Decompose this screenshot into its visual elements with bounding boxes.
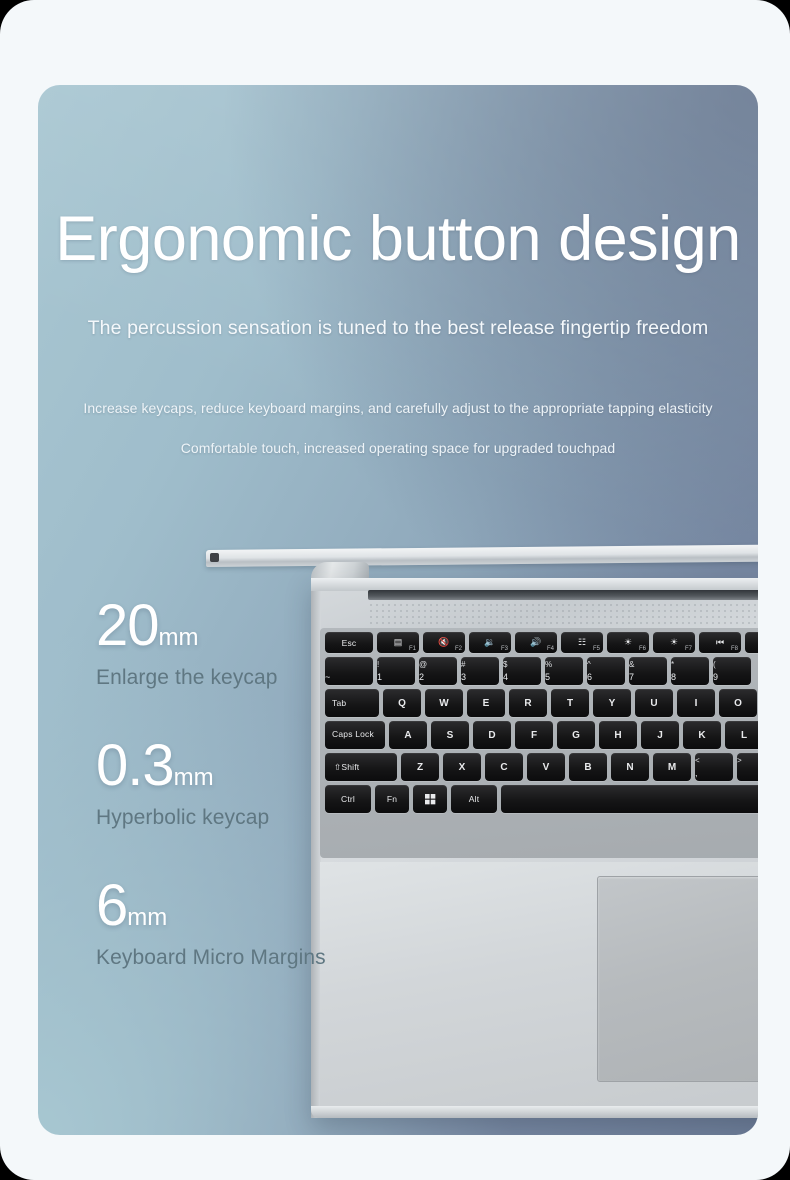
key-label: 6	[587, 672, 625, 682]
key-fn-label: F1	[409, 646, 416, 652]
volume-down-icon: 🔉	[484, 638, 495, 647]
windows-icon	[425, 794, 436, 805]
spec-unit: mm	[159, 624, 199, 651]
key-label: 5	[545, 672, 583, 682]
spec-value: 6mm	[96, 877, 376, 935]
key-fn-label: F8	[731, 646, 738, 652]
key-l[interactable]: L	[725, 721, 758, 749]
key-f6-brightness-down[interactable]: ☀ F6	[607, 632, 649, 653]
key-j[interactable]: J	[641, 721, 679, 749]
key-label: 3	[461, 672, 499, 682]
keyboard-home-row: Caps Lock A S D F G H J K L	[323, 721, 758, 749]
key-fn-label: F3	[501, 646, 508, 652]
spec-label: Keyboard Micro Margins	[96, 946, 376, 970]
key-u[interactable]: U	[635, 689, 673, 717]
spec-label: Enlarge the keycap	[96, 666, 376, 690]
key-label: K	[698, 730, 705, 741]
keyboard-number-row: ~ ! 1 @ 2 # 3 $	[323, 657, 758, 685]
key-label: Q	[398, 698, 406, 709]
key-fn-label: F6	[639, 646, 646, 652]
key-6[interactable]: ^ 6	[587, 657, 625, 685]
key-label: X	[459, 762, 466, 773]
keyboard-backlight-icon: ☷	[578, 638, 586, 647]
key-m[interactable]: M	[653, 753, 691, 781]
key-label: D	[488, 730, 495, 741]
key-label: I	[695, 698, 698, 709]
key-f2-mute[interactable]: 🔇 F2	[423, 632, 465, 653]
key-v[interactable]: V	[527, 753, 565, 781]
display-icon: ▤	[394, 638, 403, 647]
key-label: V	[543, 762, 550, 773]
spec-unit: mm	[174, 764, 214, 791]
keyboard-modifier-row: Ctrl Fn Alt	[323, 785, 758, 813]
spec-list: 20mm Enlarge the keycap 0.3mm Hyperbolic…	[96, 597, 376, 1017]
key-z[interactable]: Z	[401, 753, 439, 781]
key-spacebar[interactable]	[501, 785, 758, 813]
speaker-grille	[368, 602, 758, 624]
key-label: S	[447, 730, 454, 741]
key-label: 4	[503, 672, 541, 682]
key-y[interactable]: Y	[593, 689, 631, 717]
key-shift-label: %	[545, 660, 583, 669]
key-fn-label: F2	[455, 646, 462, 652]
key-comma[interactable]: < ,	[695, 753, 733, 781]
key-3[interactable]: # 3	[461, 657, 499, 685]
key-label: M	[668, 762, 676, 773]
key-label: E	[483, 698, 490, 709]
key-fn-label: F4	[547, 646, 554, 652]
mute-icon: 🔇	[438, 638, 449, 647]
lid-corner-detail	[210, 553, 219, 562]
previous-track-icon: ⏮	[716, 638, 724, 647]
key-label: G	[572, 730, 580, 741]
key-label: Z	[417, 762, 423, 773]
key-label: T	[567, 698, 573, 709]
spec-label: Hyperbolic keycap	[96, 806, 376, 830]
deck-front-lip	[311, 1106, 758, 1118]
key-f4-volume-up[interactable]: 🔊 F4	[515, 632, 557, 653]
key-r[interactable]: R	[509, 689, 547, 717]
key-t[interactable]: T	[551, 689, 589, 717]
key-shift-label: (	[713, 660, 751, 669]
key-label: 8	[671, 672, 709, 682]
key-9[interactable]: ( 9	[713, 657, 751, 685]
deck-dark-strip	[368, 590, 758, 600]
key-f3-volume-down[interactable]: 🔉 F3	[469, 632, 511, 653]
product-card: Ergonomic button design The percussion s…	[0, 0, 790, 1180]
spec-number: 20	[96, 593, 159, 658]
key-fn-label: F7	[685, 646, 692, 652]
key-label: O	[734, 698, 742, 709]
key-f8-previous-track[interactable]: ⏮ F8	[699, 632, 741, 653]
hero-subtitle: The percussion sensation is tuned to the…	[38, 317, 758, 340]
keyboard: Esc ▤ F1 🔇 F2 🔉 F3 🔊	[323, 632, 758, 817]
key-shift-label: @	[419, 660, 457, 669]
key-5[interactable]: % 5	[545, 657, 583, 685]
key-label: 7	[629, 672, 667, 682]
key-4[interactable]: $ 4	[503, 657, 541, 685]
spec-item-keycap-size: 20mm Enlarge the keycap	[96, 597, 376, 690]
spec-unit: mm	[127, 904, 167, 931]
key-label: N	[626, 762, 633, 773]
palm-rest	[320, 862, 758, 1118]
key-label: R	[524, 698, 531, 709]
key-g[interactable]: G	[557, 721, 595, 749]
spec-item-micro-margins: 6mm Keyboard Micro Margins	[96, 877, 376, 970]
key-label: 2	[419, 672, 457, 682]
key-a[interactable]: A	[389, 721, 427, 749]
key-c[interactable]: C	[485, 753, 523, 781]
key-shift-label: &	[629, 660, 667, 669]
key-i[interactable]: I	[677, 689, 715, 717]
spec-number: 0.3	[96, 733, 174, 798]
spec-value: 0.3mm	[96, 737, 376, 795]
key-h[interactable]: H	[599, 721, 637, 749]
key-label: A	[404, 730, 411, 741]
key-shift-label: >	[737, 756, 758, 765]
key-fn[interactable]: Fn	[375, 785, 409, 813]
spec-number: 6	[96, 873, 127, 938]
key-q[interactable]: Q	[383, 689, 421, 717]
key-n[interactable]: N	[611, 753, 649, 781]
volume-up-icon: 🔊	[530, 638, 541, 647]
keyboard-qwerty-row: Tab Q W E R T Y U I O	[323, 689, 758, 717]
key-label: ,	[695, 768, 733, 778]
key-period[interactable]: >	[737, 753, 758, 781]
hero-panel: Ergonomic button design The percussion s…	[38, 85, 758, 1135]
key-x[interactable]: X	[443, 753, 481, 781]
key-label: F	[531, 730, 537, 741]
key-windows[interactable]	[413, 785, 447, 813]
key-fn-label: F5	[593, 646, 600, 652]
key-f7-brightness-up[interactable]: ☀ F7	[653, 632, 695, 653]
key-label: Alt	[469, 794, 480, 804]
key-shift-label: $	[503, 660, 541, 669]
key-f[interactable]: F	[515, 721, 553, 749]
key-shift-label: #	[461, 660, 499, 669]
key-1[interactable]: ! 1	[377, 657, 415, 685]
key-e[interactable]: E	[467, 689, 505, 717]
key-o[interactable]: O	[719, 689, 757, 717]
key-label: Y	[609, 698, 616, 709]
keyboard-shift-row: ⇧ Shift Z X C V B N M < , >	[323, 753, 758, 781]
key-w[interactable]: W	[425, 689, 463, 717]
key-label: W	[439, 698, 448, 709]
key-b[interactable]: B	[569, 753, 607, 781]
key-alt-left[interactable]: Alt	[451, 785, 497, 813]
spec-value: 20mm	[96, 597, 376, 655]
spec-item-hyperbolic-keycap: 0.3mm Hyperbolic keycap	[96, 737, 376, 830]
key-2[interactable]: @ 2	[419, 657, 457, 685]
key-label: L	[741, 730, 747, 741]
page-title: Ergonomic button design	[38, 203, 758, 275]
key-f5-keyboard-backlight[interactable]: ☷ F5	[561, 632, 603, 653]
keyboard-function-row: Esc ▤ F1 🔇 F2 🔉 F3 🔊	[323, 632, 758, 653]
key-d[interactable]: D	[473, 721, 511, 749]
key-label: B	[584, 762, 591, 773]
key-shift-label: !	[377, 660, 415, 669]
key-shift-label: <	[695, 756, 733, 765]
key-label: H	[614, 730, 621, 741]
key-label: J	[657, 730, 663, 741]
key-label: 1	[377, 672, 415, 682]
brightness-down-icon: ☀	[624, 638, 632, 647]
key-7[interactable]: & 7	[629, 657, 667, 685]
brightness-up-icon: ☀	[670, 638, 678, 647]
key-f9-next-track[interactable]: ⏭ F9	[745, 632, 758, 653]
key-label: U	[650, 698, 657, 709]
key-shift-label: *	[671, 660, 709, 669]
laptop-lid-edge	[206, 544, 758, 567]
key-label: C	[500, 762, 507, 773]
key-label: 9	[713, 672, 751, 682]
key-label: Fn	[387, 794, 397, 804]
key-s[interactable]: S	[431, 721, 469, 749]
hero-description-2: Comfortable touch, increased operating s…	[38, 440, 758, 456]
key-shift-label: ^	[587, 660, 625, 669]
key-f1-display[interactable]: ▤ F1	[377, 632, 419, 653]
hero-description-1: Increase keycaps, reduce keyboard margin…	[38, 400, 758, 416]
key-8[interactable]: * 8	[671, 657, 709, 685]
touchpad[interactable]	[597, 876, 758, 1082]
key-k[interactable]: K	[683, 721, 721, 749]
